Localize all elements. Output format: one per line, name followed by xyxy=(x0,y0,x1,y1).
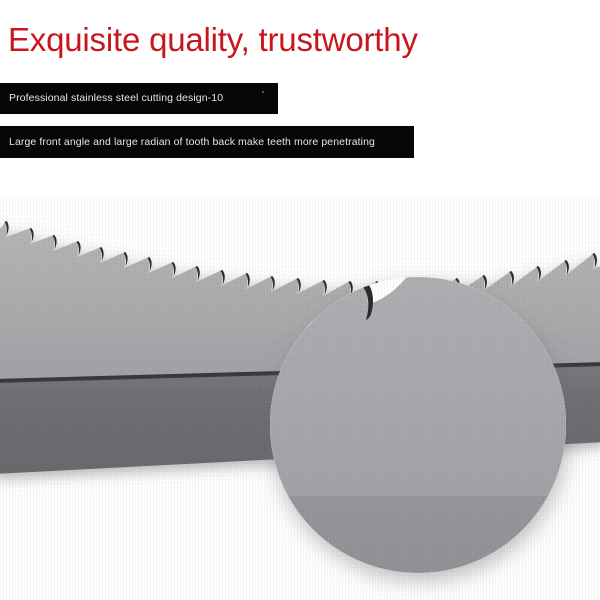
product-image xyxy=(0,196,600,600)
promo-banner-page: Exquisite quality, trustworthy Professio… xyxy=(0,0,600,600)
magnified-tooth-detail xyxy=(258,208,578,588)
blade-illustration xyxy=(0,196,600,600)
apostrophe-mark-icon: ’ xyxy=(262,91,264,101)
caption-bar-tooth-label: Large front angle and large radian of to… xyxy=(0,136,375,149)
page-title: Exquisite quality, trustworthy xyxy=(8,20,418,60)
caption-bar-tooth: Large front angle and large radian of to… xyxy=(0,126,414,158)
caption-bar-design-label: Professional stainless steel cutting des… xyxy=(0,92,223,105)
caption-bar-design: Professional stainless steel cutting des… xyxy=(0,83,278,114)
